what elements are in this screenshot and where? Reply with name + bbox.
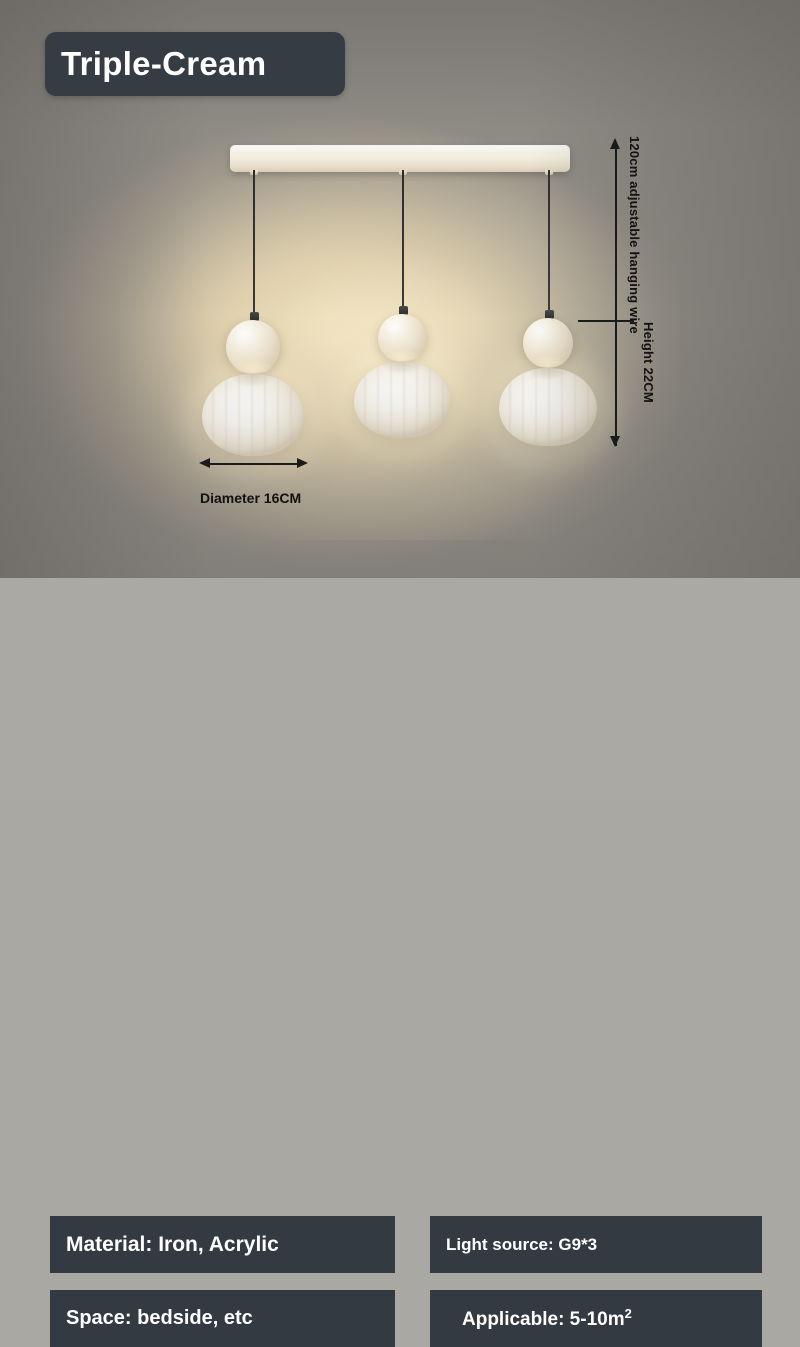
spec-applicable-sup: 2: [625, 1306, 632, 1321]
title-text: Triple-Cream: [45, 45, 266, 83]
product-photo: 120cm adjustable hanging wire Height 22C…: [0, 0, 800, 578]
arrow-down-icon: [610, 436, 620, 447]
spec-light-source-label: Light source: G9*3: [430, 1235, 597, 1255]
spec-panel: Material: Iron, Acrylic Light source: G9…: [0, 578, 800, 800]
diameter-dimension-line: [208, 463, 300, 465]
spec-box-applicable: Applicable: 5-10m2: [430, 1290, 762, 1347]
title-badge: Triple-Cream: [45, 32, 345, 96]
spec-box-material: Material: Iron, Acrylic: [50, 1216, 395, 1273]
spec-box-space: Space: bedside, etc: [50, 1290, 395, 1347]
dimension-tick-mark: [578, 320, 634, 322]
spec-applicable-label: Applicable: 5-10m2: [430, 1306, 632, 1331]
spec-space-label: Space: bedside, etc: [50, 1307, 253, 1330]
height-label: Height 22CM: [641, 322, 656, 403]
product-infographic: 120cm adjustable hanging wire Height 22C…: [0, 0, 800, 800]
spec-box-light-source: Light source: G9*3: [430, 1216, 762, 1273]
diameter-label: Diameter 16CM: [200, 490, 301, 506]
spec-material-label: Material: Iron, Acrylic: [50, 1233, 279, 1257]
vertical-dimension-line: [615, 144, 617, 446]
hanging-wire-label: 120cm adjustable hanging wire: [627, 136, 642, 334]
arrow-right-icon: [297, 458, 308, 468]
spec-applicable-text: Applicable: 5-10m: [446, 1309, 625, 1330]
